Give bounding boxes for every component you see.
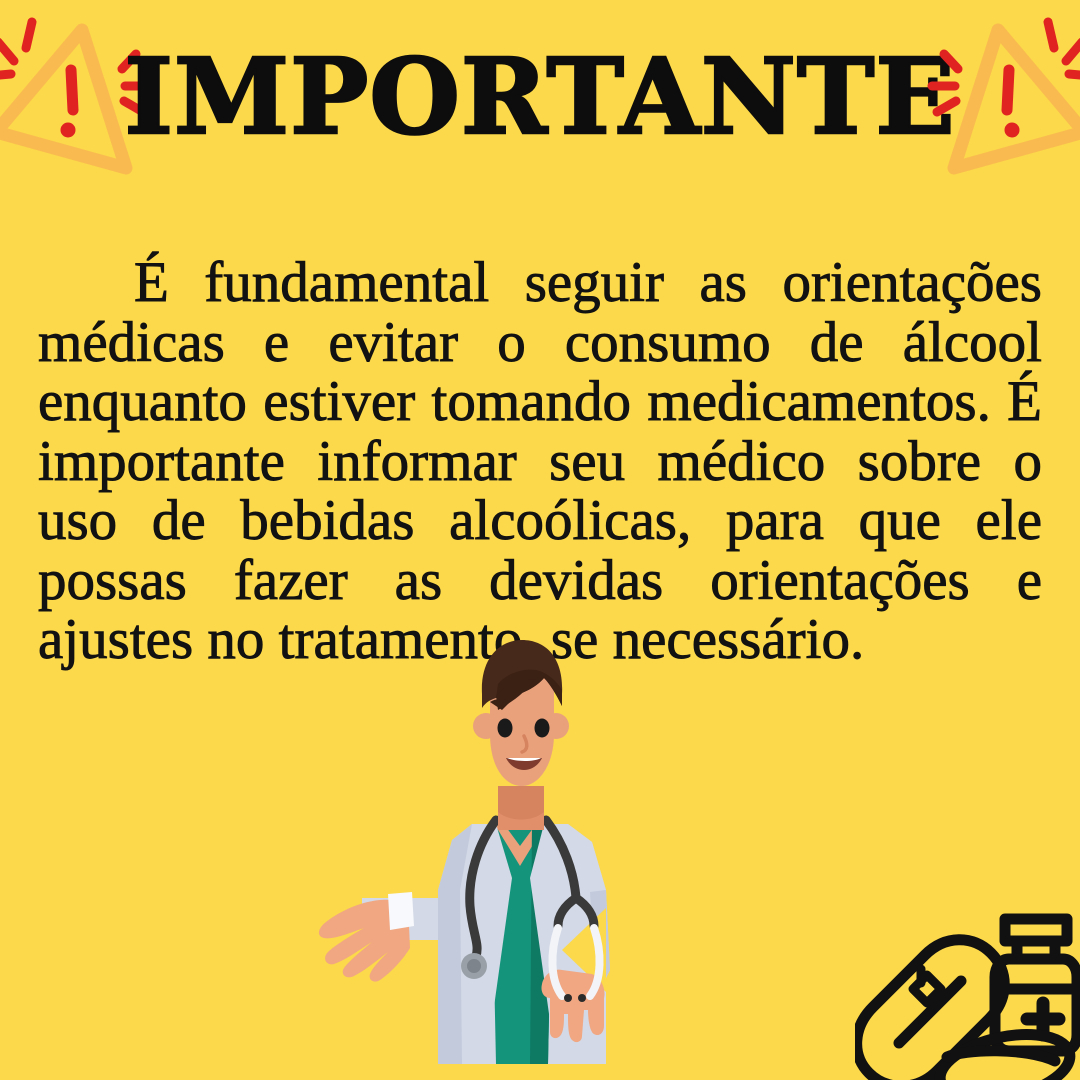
pills-and-bottle-illustration (855, 885, 1080, 1080)
body-paragraph: É fundamental seguir as orientações médi… (38, 253, 1042, 670)
doctor-illustration (300, 640, 740, 1080)
poster-canvas: IMPORTANTE É fundamental seguir as orien… (0, 0, 1080, 1080)
title-row: IMPORTANTE (0, 0, 1080, 190)
warning-triangle-icon (894, 8, 1080, 186)
